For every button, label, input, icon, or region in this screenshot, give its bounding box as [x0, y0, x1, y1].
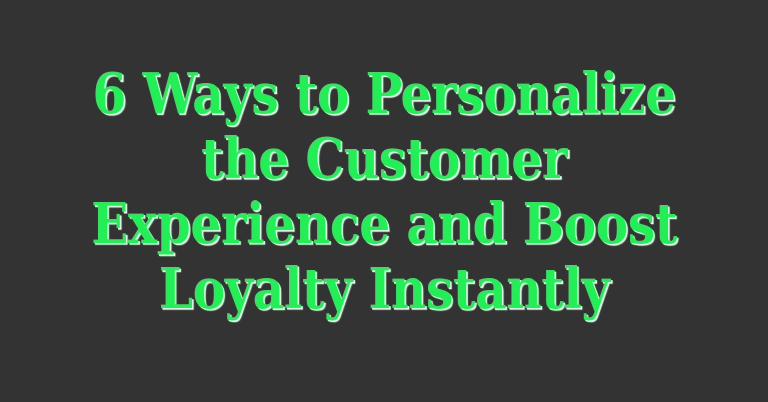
headline-line-2: the Customer — [12, 127, 757, 192]
headline-line-4: Loyalty Instantly — [12, 257, 757, 322]
title-card: 6 Ways to Personalize the Customer Exper… — [0, 0, 768, 402]
headline-line-3: Experience and Boost — [12, 192, 757, 257]
headline-line-1: 6 Ways to Personalize — [12, 62, 757, 127]
page-title: 6 Ways to Personalize the Customer Exper… — [0, 62, 768, 322]
